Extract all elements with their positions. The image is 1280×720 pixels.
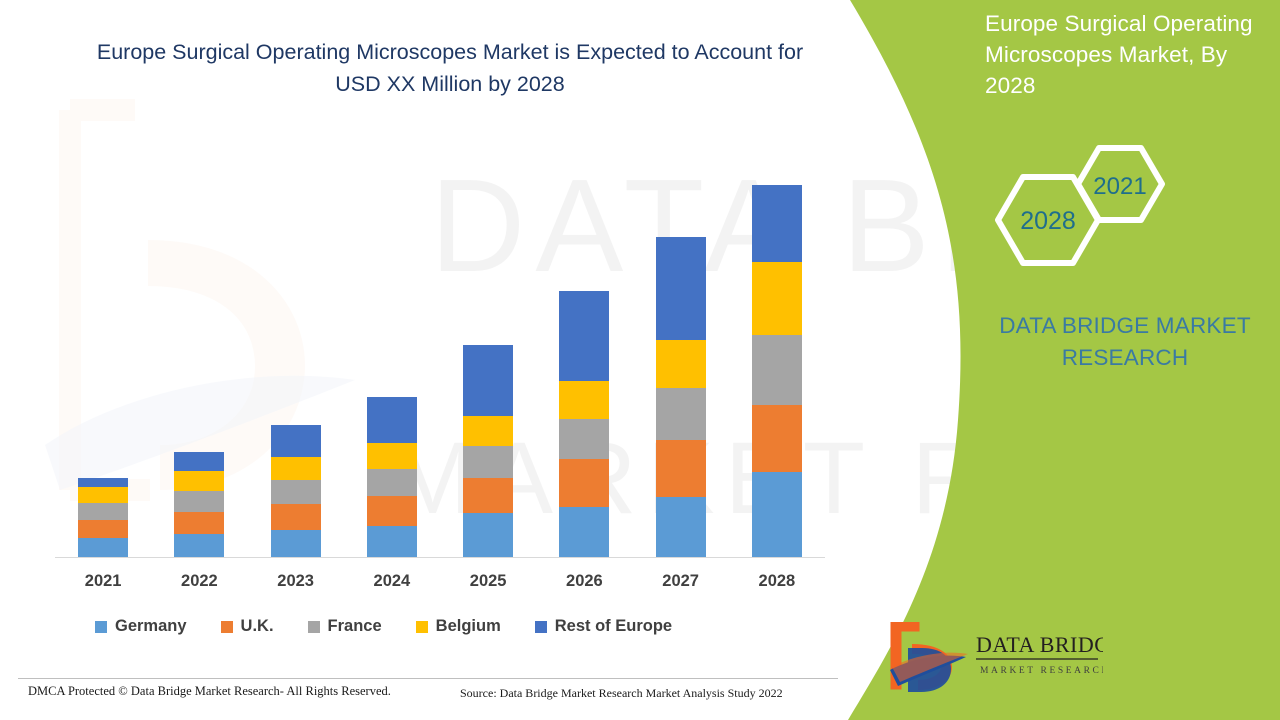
bar-segment-2027-belgium[interactable] <box>656 340 706 388</box>
hexagon-2021-shape: 2021 <box>1078 148 1162 220</box>
bar-segment-2022-rest-of-europe[interactable] <box>174 452 224 471</box>
legend-swatch-germany <box>95 621 107 633</box>
bar-segment-2022-france[interactable] <box>174 491 224 512</box>
x-axis-tick-2027: 2027 <box>633 572 729 591</box>
stacked-bar-2026[interactable] <box>559 291 609 557</box>
legend-swatch-rest-of-europe <box>535 621 547 633</box>
footer-source: Source: Data Bridge Market Research Mark… <box>460 686 783 701</box>
bar-segment-2027-u-k[interactable] <box>656 440 706 497</box>
stacked-bar-2028[interactable] <box>752 185 802 557</box>
bar-segment-2027-rest-of-europe[interactable] <box>656 237 706 340</box>
bar-segment-2028-rest-of-europe[interactable] <box>752 185 802 262</box>
stacked-bars-group <box>55 140 825 557</box>
data-bridge-b-mark-icon <box>890 626 968 692</box>
bar-slot-2022 <box>151 140 247 557</box>
legend-item-u-k[interactable]: U.K. <box>221 617 274 636</box>
bar-segment-2026-germany[interactable] <box>559 507 609 557</box>
bar-segment-2028-u-k[interactable] <box>752 405 802 472</box>
x-axis-tick-2024: 2024 <box>344 572 440 591</box>
bar-segment-2024-belgium[interactable] <box>367 443 417 469</box>
legend-label-u-k: U.K. <box>241 617 274 636</box>
x-axis-tick-2021: 2021 <box>55 572 151 591</box>
bar-segment-2022-belgium[interactable] <box>174 471 224 491</box>
bar-segment-2025-u-k[interactable] <box>463 478 513 513</box>
bar-slot-2021 <box>55 140 151 557</box>
bar-segment-2024-france[interactable] <box>367 469 417 496</box>
stacked-bar-2024[interactable] <box>367 397 417 557</box>
chart-legend: GermanyU.K.FranceBelgiumRest of Europe <box>95 617 795 636</box>
bar-segment-2023-france[interactable] <box>271 480 321 504</box>
bar-segment-2026-france[interactable] <box>559 419 609 459</box>
bar-segment-2024-u-k[interactable] <box>367 496 417 526</box>
x-axis-line <box>55 557 825 558</box>
bar-segment-2021-belgium[interactable] <box>78 487 128 503</box>
bar-segment-2021-germany[interactable] <box>78 538 128 557</box>
x-axis-tick-2023: 2023 <box>248 572 344 591</box>
legend-item-belgium[interactable]: Belgium <box>416 617 501 636</box>
bar-segment-2021-france[interactable] <box>78 503 128 520</box>
footer-divider <box>18 678 838 679</box>
brand-name: DATA BRIDGE MARKET RESEARCH <box>960 310 1280 374</box>
stacked-bar-2023[interactable] <box>271 425 321 557</box>
logo-secondary-text: MARKET RESEARCH <box>980 666 1103 676</box>
legend-swatch-u-k <box>221 621 233 633</box>
chart-plot-area <box>55 140 825 558</box>
bar-slot-2026 <box>536 140 632 557</box>
x-axis-labels: 20212022202320242025202620272028 <box>55 572 825 591</box>
chart-title: Europe Surgical Operating Microscopes Ma… <box>95 36 805 100</box>
bar-segment-2027-germany[interactable] <box>656 497 706 557</box>
bar-slot-2024 <box>344 140 440 557</box>
hexagon-pair: 2028 2021 <box>975 135 1185 280</box>
bar-segment-2023-u-k[interactable] <box>271 504 321 530</box>
legend-swatch-france <box>308 621 320 633</box>
bar-segment-2025-france[interactable] <box>463 446 513 478</box>
legend-item-france[interactable]: France <box>308 617 382 636</box>
stacked-bar-2022[interactable] <box>174 452 224 557</box>
hexagon-2021-label: 2021 <box>1093 173 1146 200</box>
bar-segment-2028-germany[interactable] <box>752 472 802 557</box>
bar-segment-2024-rest-of-europe[interactable] <box>367 397 417 443</box>
bar-segment-2028-belgium[interactable] <box>752 262 802 335</box>
bar-segment-2025-germany[interactable] <box>463 513 513 557</box>
bar-segment-2025-belgium[interactable] <box>463 416 513 446</box>
legend-label-rest-of-europe: Rest of Europe <box>555 617 672 636</box>
legend-item-rest-of-europe[interactable]: Rest of Europe <box>535 617 672 636</box>
footer-copyright: DMCA Protected © Data Bridge Market Rese… <box>28 684 391 699</box>
bar-segment-2021-rest-of-europe[interactable] <box>78 478 128 487</box>
bar-segment-2022-germany[interactable] <box>174 534 224 557</box>
legend-label-germany: Germany <box>115 617 187 636</box>
bar-segment-2022-u-k[interactable] <box>174 512 224 534</box>
bar-segment-2026-rest-of-europe[interactable] <box>559 291 609 381</box>
bar-slot-2023 <box>248 140 344 557</box>
bar-slot-2025 <box>440 140 536 557</box>
bar-segment-2028-france[interactable] <box>752 335 802 405</box>
bar-segment-2026-belgium[interactable] <box>559 381 609 419</box>
bar-segment-2023-germany[interactable] <box>271 530 321 557</box>
stacked-bar-2021[interactable] <box>78 478 128 557</box>
data-bridge-logo: DATA BRIDGE MARKET RESEARCH <box>888 622 1103 694</box>
x-axis-tick-2028: 2028 <box>729 572 825 591</box>
stacked-bar-2027[interactable] <box>656 237 706 557</box>
hexagon-2028-label: 2028 <box>1020 207 1076 235</box>
x-axis-tick-2022: 2022 <box>151 572 247 591</box>
infographic-canvas: DATA BRIDGE MARKET RESEARCH Europe Surgi… <box>0 0 1280 720</box>
bar-segment-2024-germany[interactable] <box>367 526 417 557</box>
x-axis-tick-2025: 2025 <box>440 572 536 591</box>
legend-label-france: France <box>328 617 382 636</box>
logo-primary-text: DATA BRIDGE <box>976 632 1103 657</box>
panel-title: Europe Surgical Operating Microscopes Ma… <box>985 8 1270 101</box>
bar-slot-2027 <box>633 140 729 557</box>
bar-segment-2021-u-k[interactable] <box>78 520 128 538</box>
bar-segment-2025-rest-of-europe[interactable] <box>463 345 513 416</box>
x-axis-tick-2026: 2026 <box>536 572 632 591</box>
legend-swatch-belgium <box>416 621 428 633</box>
legend-label-belgium: Belgium <box>436 617 501 636</box>
bar-segment-2027-france[interactable] <box>656 388 706 440</box>
bar-segment-2026-u-k[interactable] <box>559 459 609 507</box>
bar-slot-2028 <box>729 140 825 557</box>
bar-segment-2023-rest-of-europe[interactable] <box>271 425 321 457</box>
stacked-bar-2025[interactable] <box>463 345 513 557</box>
bar-segment-2023-belgium[interactable] <box>271 457 321 480</box>
legend-item-germany[interactable]: Germany <box>95 617 187 636</box>
